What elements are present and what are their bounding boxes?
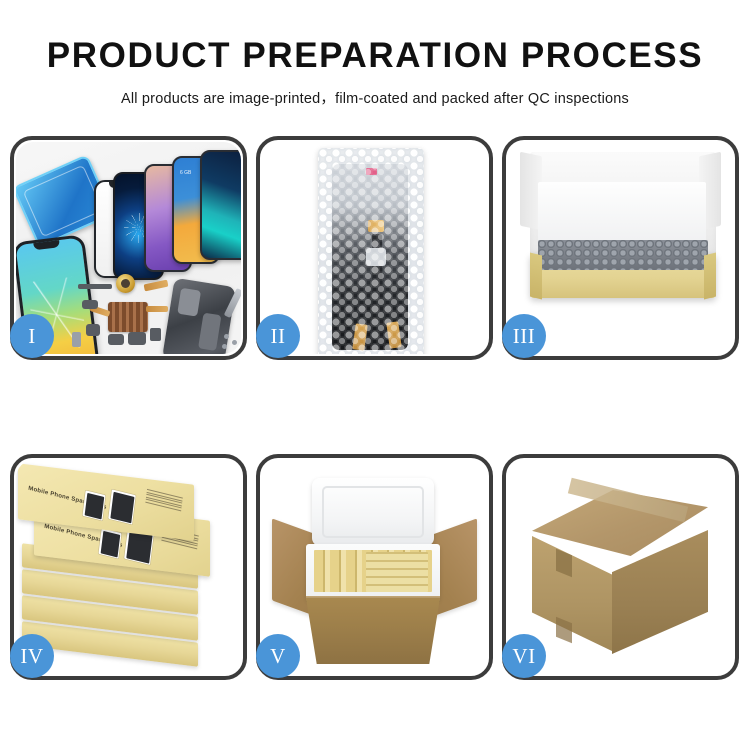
small-part-icon-1 [82,300,98,309]
box-product-image-2 [108,489,135,524]
speaker-module-icon [116,274,135,293]
step-badge-1: I [10,314,54,358]
lcd-screen-icon [332,164,408,350]
phone-notch-icon [33,240,60,250]
gold-contact-icon-1 [368,220,384,232]
small-part-icon-2 [86,324,100,336]
screw-icon-3 [222,344,227,349]
process-step-panel-3: III [502,136,739,360]
foam-lid-icon [312,478,434,546]
yellow-box-tray-icon [530,254,716,298]
process-step-panel-4: Mobile Phone Spare Parts Mobile Phone Sp… [10,454,247,680]
connector-icon [366,248,386,266]
header: PRODUCT PREPARATION PROCESS All products… [0,0,750,108]
screw-icon-1 [224,334,229,339]
chip-array-icon [108,302,148,332]
small-part-icon-5 [150,328,161,341]
process-step-panel-2: II [256,136,493,360]
small-part-icon-3 [108,334,124,345]
step-badge-4: IV [10,634,54,678]
phone-ui-text: 6 GB [180,170,191,176]
page-subtitle: All products are image-printed，film-coat… [0,73,750,108]
box-product-image-1 [82,490,105,520]
step-badge-6: VI [502,634,546,678]
process-step-panel-5: V [256,454,493,680]
step-badge-2: II [256,314,300,358]
process-step-panel-6: VI [502,454,739,680]
phone-screen-teal-icon [200,150,241,260]
battery-connector-icon [72,332,81,347]
screw-icon-2 [232,340,237,345]
carton-left-face-icon [532,536,614,652]
sealed-carton-photo [508,460,733,674]
box-product-image-3 [98,528,121,558]
stacked-boxes-photo: Mobile Phone Spare Parts Mobile Phone Sp… [16,460,241,674]
process-step-grid: 6 GB [10,136,740,684]
tray-left-edge-icon [530,253,542,300]
bubble-wrapped-contents-icon [538,240,708,270]
gold-contact-icon-2 [352,323,368,350]
red-label-sticker-icon [366,168,377,175]
gold-contact-icon-3 [386,321,402,348]
carton-packing-photo [262,460,487,674]
bubble-wrap-bag-icon [318,148,424,354]
box-spec-lines-1 [145,489,183,513]
step-badge-3: III [502,314,546,358]
small-part-icon-4 [128,332,146,345]
step-badge-5: V [256,634,300,678]
carton-front-icon [306,598,440,664]
flex-cable-icon-3 [146,306,168,312]
foam-liner-icon [306,544,440,600]
tray-right-edge-icon [704,253,716,300]
packed-yellow-boxes-icon-2 [366,552,428,592]
product-preparation-infographic: PRODUCT PREPARATION PROCESS All products… [0,0,750,750]
process-step-panel-1: 6 GB [10,136,247,360]
page-title: PRODUCT PREPARATION PROCESS [0,0,750,73]
earpiece-bar-icon [78,284,112,289]
